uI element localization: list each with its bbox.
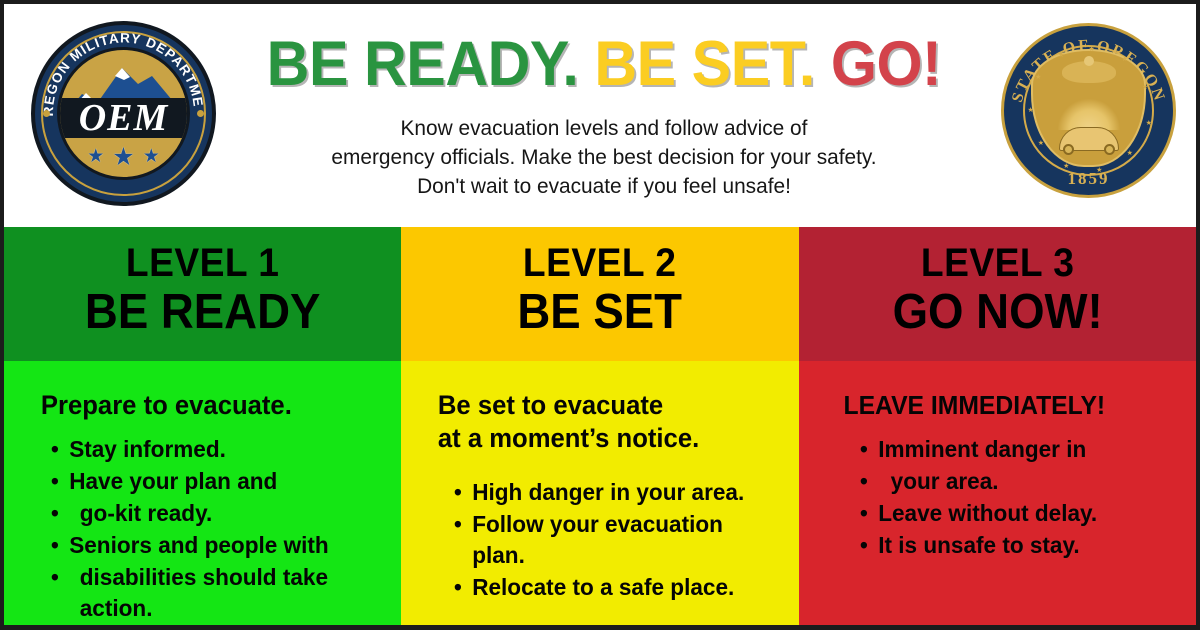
level-1-body: Prepare to evacuate. Stay informed. Have…	[4, 361, 401, 625]
evacuation-levels-poster: OREGON MILITARY DEPARTMENT OFFICE OF EME…	[0, 0, 1200, 630]
list-item: Imminent danger in	[859, 434, 1167, 465]
subtitle-line-1: Know evacuation levels and follow advice…	[240, 114, 968, 143]
poster-inner: OREGON MILITARY DEPARTMENT OFFICE OF EME…	[4, 4, 1196, 625]
oem-dot-right	[197, 110, 204, 117]
level-2-lead-line-2: at a moment’s notice.	[438, 422, 764, 455]
subtitle-line-2: emergency officials. Make the best decis…	[240, 143, 968, 172]
list-item: Seniors and people with	[50, 530, 372, 561]
level-2-header: LEVEL 2 BE SET	[401, 227, 798, 361]
level-3-action: GO NOW!	[813, 286, 1183, 338]
oem-seal-logo: OREGON MILITARY DEPARTMENT OFFICE OF EME…	[31, 21, 216, 206]
eagle-icon	[1062, 61, 1116, 83]
sunset-icon	[1052, 93, 1126, 130]
oem-dot-left	[43, 110, 50, 117]
level-2-bullet-list: High danger in your area. Follow your ev…	[417, 477, 782, 603]
subtitle-line-3: Don't wait to evacuate if you feel unsaf…	[240, 172, 968, 201]
list-item-continuation: disabilities should take action.	[50, 562, 372, 624]
title-part-be-ready: BE READY.	[267, 29, 579, 99]
list-item: It is unsafe to stay.	[859, 530, 1167, 561]
level-3-header: LEVEL 3 GO NOW!	[799, 227, 1196, 361]
level-2-column: LEVEL 2 BE SET Be set to evacuate at a m…	[401, 227, 798, 625]
list-item: Leave without delay.	[859, 498, 1167, 529]
subtitle: Know evacuation levels and follow advice…	[229, 114, 979, 201]
title-part-be-set: BE SET.	[594, 29, 815, 99]
level-1-label: LEVEL 1	[18, 241, 388, 286]
level-1-lead: Prepare to evacuate.	[20, 389, 367, 422]
level-2-action: BE SET	[415, 286, 785, 338]
level-1-bullet-list: Stay informed. Have your plan and go-kit…	[20, 434, 385, 624]
oem-monogram: OEM	[60, 96, 187, 140]
level-2-lead-line-1: Be set to evacuate	[438, 389, 764, 422]
star-icon-right: ★	[143, 145, 160, 168]
oregon-state-seal: STATE OF OREGON ★ ★ ★ ★ ★ ★ ★ ★	[1001, 23, 1176, 198]
level-3-body: LEAVE IMMEDIATELY! Imminent danger in yo…	[799, 361, 1196, 625]
level-3-lead: LEAVE IMMEDIATELY!	[815, 389, 1162, 422]
oem-stars: ★★★	[60, 142, 187, 172]
poster-header: OREGON MILITARY DEPARTMENT OFFICE OF EME…	[4, 4, 1196, 227]
level-3-label: LEVEL 3	[813, 241, 1183, 286]
oem-seal-core: OEM ★★★	[57, 47, 190, 180]
evacuation-levels-row: LEVEL 1 BE READY Prepare to evacuate. St…	[4, 227, 1196, 625]
list-item: Stay informed.	[50, 434, 372, 465]
star-icon-center: ★	[112, 142, 134, 172]
star-icon-left: ★	[87, 145, 104, 168]
list-item: Have your plan and	[50, 466, 372, 497]
level-2-lead: Be set to evacuate at a moment’s notice.	[417, 389, 764, 455]
level-2-body: Be set to evacuate at a moment’s notice.…	[401, 361, 798, 625]
list-item: High danger in your area.	[453, 477, 769, 508]
level-1-header: LEVEL 1 BE READY	[4, 227, 401, 361]
covered-wagon-icon	[1059, 127, 1119, 151]
level-1-column: LEVEL 1 BE READY Prepare to evacuate. St…	[4, 227, 401, 625]
list-item-continuation: go-kit ready.	[50, 498, 372, 529]
page-title: BE READY. BE SET. GO!	[261, 32, 947, 96]
list-item-continuation: your area.	[859, 466, 1167, 497]
level-3-column: LEVEL 3 GO NOW! LEAVE IMMEDIATELY! Immin…	[799, 227, 1196, 625]
level-2-label: LEVEL 2	[415, 241, 785, 286]
oregon-seal-year: 1859	[1001, 169, 1176, 189]
list-item: Follow your evacuation plan.	[453, 509, 769, 571]
list-item: Relocate to a safe place.	[453, 572, 769, 603]
level-3-bullet-list: Imminent danger in your area. Leave with…	[815, 434, 1180, 561]
level-1-action: BE READY	[18, 286, 388, 338]
title-part-go: GO!	[831, 29, 941, 99]
